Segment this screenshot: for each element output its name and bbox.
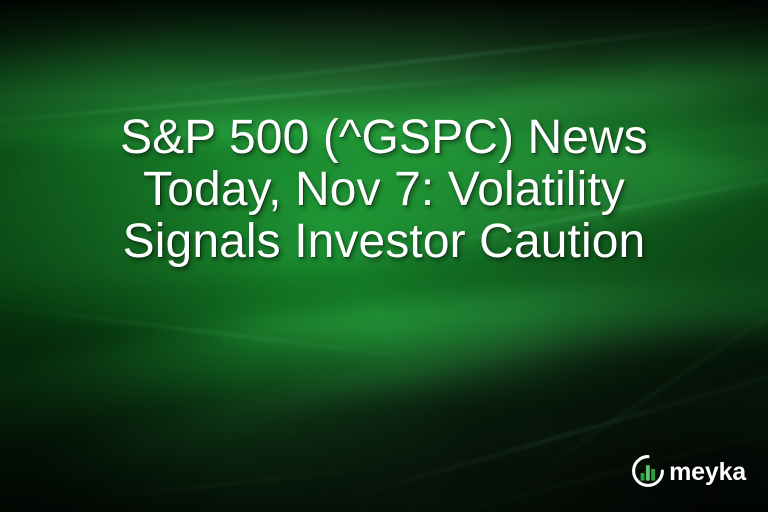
light-streak-6 [0, 465, 399, 511]
brand-logo[interactable]: meyka [631, 454, 746, 488]
bar-chart-in-ring-icon [631, 454, 665, 488]
headline-line-2: Today, Nov 7: Volatility [0, 164, 768, 216]
wave-shadow-3 [117, 0, 768, 117]
light-streak-8 [0, 298, 458, 363]
wave-shadow-2 [0, 362, 723, 512]
headline-line-1: S&P 500 (^GSPC) News [0, 112, 768, 164]
brand-name: meyka [669, 460, 746, 485]
news-banner: S&P 500 (^GSPC) News Today, Nov 7: Volat… [0, 0, 768, 512]
headline-line-3: Signals Investor Caution [0, 216, 768, 268]
wave-band-8 [0, 371, 768, 512]
headline: S&P 500 (^GSPC) News Today, Nov 7: Volat… [0, 112, 768, 268]
light-streak-1 [142, 12, 768, 93]
